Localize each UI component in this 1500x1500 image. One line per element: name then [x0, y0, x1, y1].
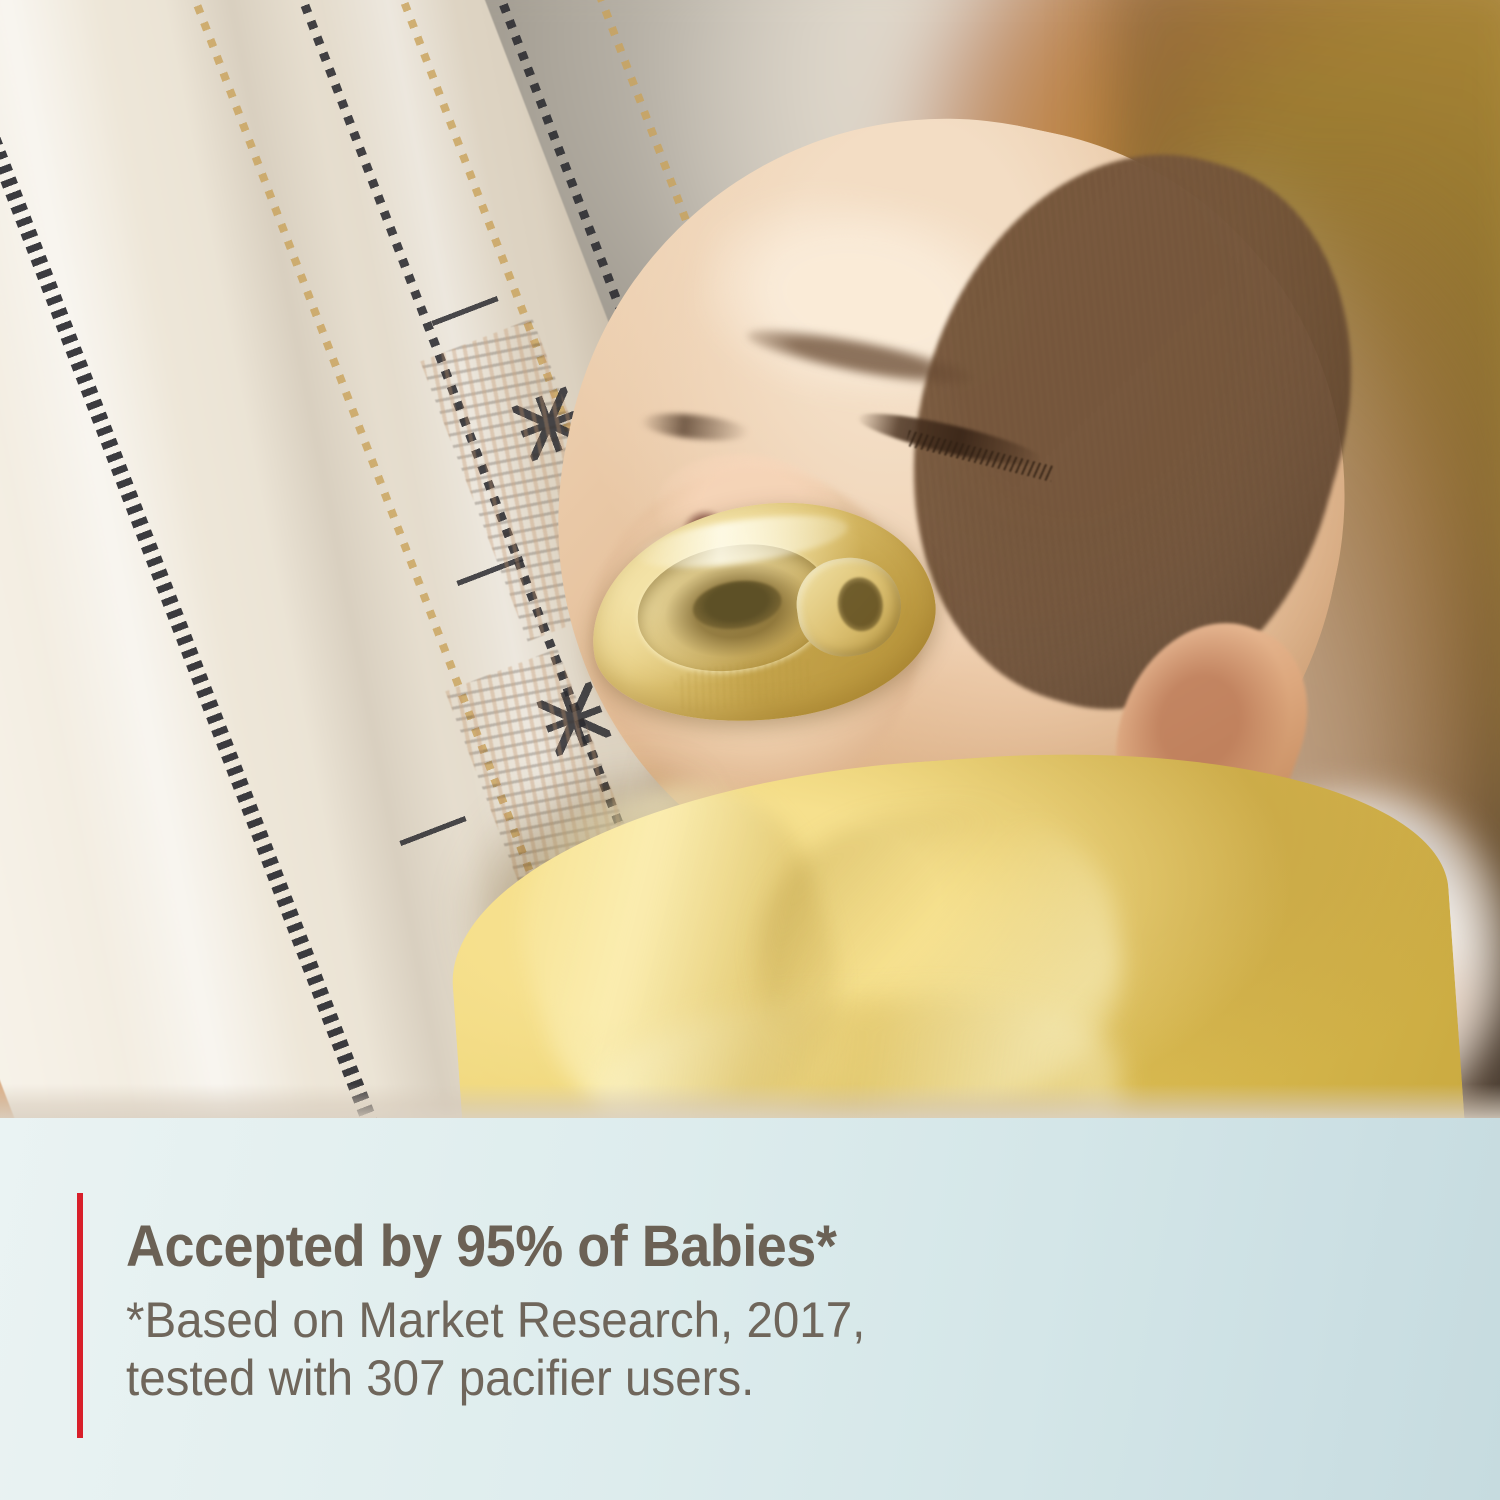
red-accent-bar — [77, 1193, 83, 1438]
headline: Accepted by 95% of Babies* — [126, 1216, 1056, 1277]
caption-text-block: Accepted by 95% of Babies* *Based on Mar… — [126, 1216, 1126, 1407]
product-marketing-image: Accepted by 95% of Babies* *Based on Mar… — [0, 0, 1500, 1500]
footnote-line-2: tested with 307 pacifier users. — [126, 1349, 1076, 1407]
photo-bottom-fade — [0, 1084, 1500, 1118]
caption-panel: Accepted by 95% of Babies* *Based on Mar… — [0, 1118, 1500, 1500]
lifestyle-photo — [0, 0, 1500, 1118]
footnote: *Based on Market Research, 2017, tested … — [126, 1291, 1076, 1407]
footnote-line-1: *Based on Market Research, 2017, — [126, 1291, 1076, 1349]
